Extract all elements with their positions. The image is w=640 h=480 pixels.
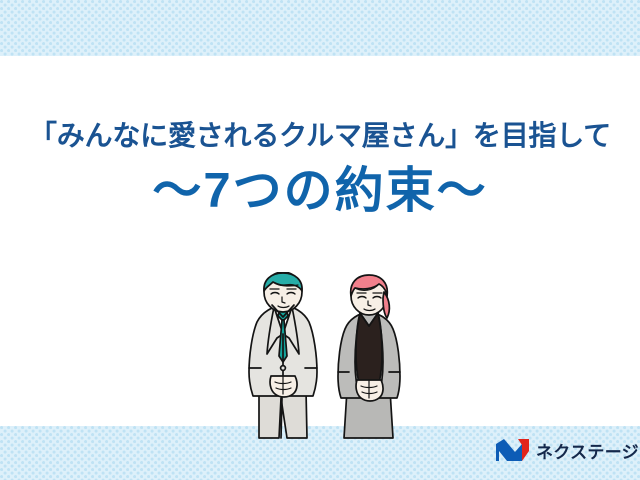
nextage-n-mark-icon bbox=[496, 439, 529, 462]
top-dot-band bbox=[0, 0, 640, 56]
headline-primary: 「みんなに愛されるクルマ屋さん」を目指して bbox=[0, 118, 640, 153]
nextage-logo: ネクステージ bbox=[496, 438, 639, 463]
man-jacket-button bbox=[281, 366, 286, 371]
headline-block: 「みんなに愛されるクルマ屋さん」を目指して 〜7つの約束〜 bbox=[0, 118, 640, 219]
nextage-logo-text: ネクステージ bbox=[536, 438, 639, 463]
woman-hair-side bbox=[383, 292, 389, 318]
banner-canvas: 「みんなに愛されるクルマ屋さん」を目指して 〜7つの約束〜 bbox=[0, 0, 640, 480]
staff-pair-icon bbox=[243, 272, 413, 440]
bowing-staff-illustration bbox=[243, 272, 413, 440]
headline-secondary: 〜7つの約束〜 bbox=[0, 165, 640, 219]
